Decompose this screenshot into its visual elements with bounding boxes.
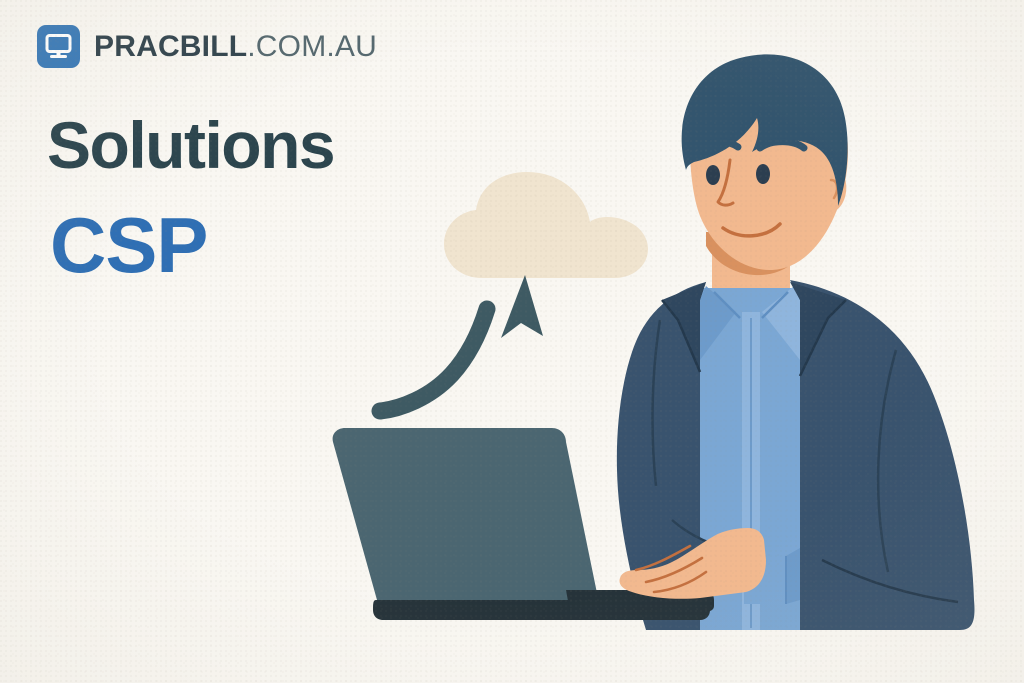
monitor-icon	[37, 25, 80, 68]
page-title-solutions: Solutions	[47, 112, 334, 178]
poster-canvas: PRACBILL.COM.AU Solutions CSP	[0, 0, 1024, 683]
brand-name-primary: PRACBILL	[94, 30, 247, 63]
brand-name-suffix: .COM.AU	[247, 30, 377, 63]
typing-hand	[620, 528, 767, 599]
page-title-csp: CSP	[50, 206, 207, 284]
brand-wordmark: PRACBILL.COM.AU	[94, 32, 377, 62]
hand-illustration	[0, 0, 1024, 683]
brand-logo[interactable]: PRACBILL.COM.AU	[37, 25, 377, 68]
